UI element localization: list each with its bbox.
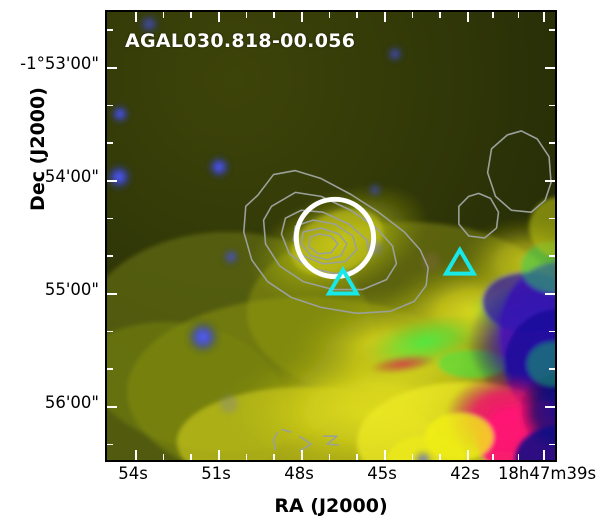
tick-mark bbox=[273, 454, 275, 460]
tick-mark bbox=[543, 450, 545, 460]
tick-mark bbox=[492, 454, 494, 460]
x-tick-label: 48s bbox=[284, 466, 314, 483]
tick-mark bbox=[246, 12, 248, 18]
tick-mark bbox=[518, 454, 520, 460]
tick-mark bbox=[543, 12, 545, 22]
x-tick-label: 54s bbox=[118, 466, 148, 483]
x-tick-label: 45s bbox=[367, 466, 397, 483]
tick-mark bbox=[107, 406, 117, 408]
image-panel: AGAL030.818-00.056 bbox=[105, 10, 557, 462]
tick-mark bbox=[163, 454, 165, 460]
y-tick-label: 55'00" bbox=[45, 282, 99, 299]
y-tick-label: -1°53'00" bbox=[20, 56, 99, 73]
x-tick-label: 51s bbox=[201, 466, 231, 483]
tick-mark bbox=[384, 450, 386, 460]
tick-mark bbox=[329, 454, 331, 460]
tick-mark bbox=[107, 218, 113, 220]
tick-mark bbox=[545, 406, 555, 408]
tick-mark bbox=[135, 12, 137, 22]
tick-mark bbox=[545, 180, 555, 182]
tick-mark bbox=[412, 454, 414, 460]
y-tick-label: 56'00" bbox=[45, 395, 99, 412]
tick-mark bbox=[492, 12, 494, 18]
y-tick-label: 54'00" bbox=[45, 169, 99, 186]
tick-mark bbox=[549, 142, 555, 144]
tick-mark bbox=[218, 450, 220, 460]
tick-mark bbox=[190, 12, 192, 18]
tick-mark bbox=[549, 331, 555, 333]
tick-mark bbox=[135, 450, 137, 460]
tick-mark bbox=[107, 293, 117, 295]
tick-mark bbox=[467, 12, 469, 22]
tick-mark bbox=[518, 12, 520, 18]
tick-mark bbox=[273, 12, 275, 18]
figure-root: Dec (J2000) RA (J2000) -1°53'00"54'00"55… bbox=[0, 0, 605, 527]
tick-mark bbox=[439, 12, 441, 18]
tick-mark bbox=[163, 12, 165, 18]
tick-mark bbox=[467, 450, 469, 460]
tick-mark bbox=[301, 12, 303, 22]
tick-mark bbox=[301, 450, 303, 460]
plot-title: AGAL030.818-00.056 bbox=[125, 30, 355, 52]
tick-mark bbox=[107, 255, 113, 257]
tick-mark bbox=[545, 67, 555, 69]
tick-mark bbox=[545, 293, 555, 295]
tick-mark bbox=[107, 331, 113, 333]
tick-mark bbox=[107, 105, 113, 107]
tick-mark bbox=[549, 29, 555, 31]
tick-mark bbox=[190, 454, 192, 460]
tick-mark bbox=[549, 255, 555, 257]
tick-mark bbox=[107, 368, 113, 370]
x-axis-label: RA (J2000) bbox=[105, 495, 557, 517]
tick-mark bbox=[439, 454, 441, 460]
x-tick-label: 18h47m39s bbox=[498, 466, 596, 483]
tick-mark bbox=[107, 180, 117, 182]
tick-mark bbox=[218, 12, 220, 22]
tick-mark bbox=[329, 12, 331, 18]
tick-mark bbox=[549, 105, 555, 107]
rgb-composite-image bbox=[107, 12, 555, 460]
tick-mark bbox=[107, 67, 117, 69]
tick-mark bbox=[384, 12, 386, 22]
tick-mark bbox=[107, 29, 113, 31]
sky-image bbox=[107, 12, 555, 460]
y-axis-label: Dec (J2000) bbox=[27, 49, 49, 249]
tick-mark bbox=[549, 368, 555, 370]
tick-mark bbox=[356, 454, 358, 460]
tick-mark bbox=[107, 142, 113, 144]
tick-mark bbox=[549, 444, 555, 446]
tick-mark bbox=[246, 454, 248, 460]
tick-mark bbox=[549, 218, 555, 220]
tick-mark bbox=[107, 444, 113, 446]
tick-mark bbox=[412, 12, 414, 18]
tick-mark bbox=[356, 12, 358, 18]
x-tick-label: 42s bbox=[450, 466, 480, 483]
